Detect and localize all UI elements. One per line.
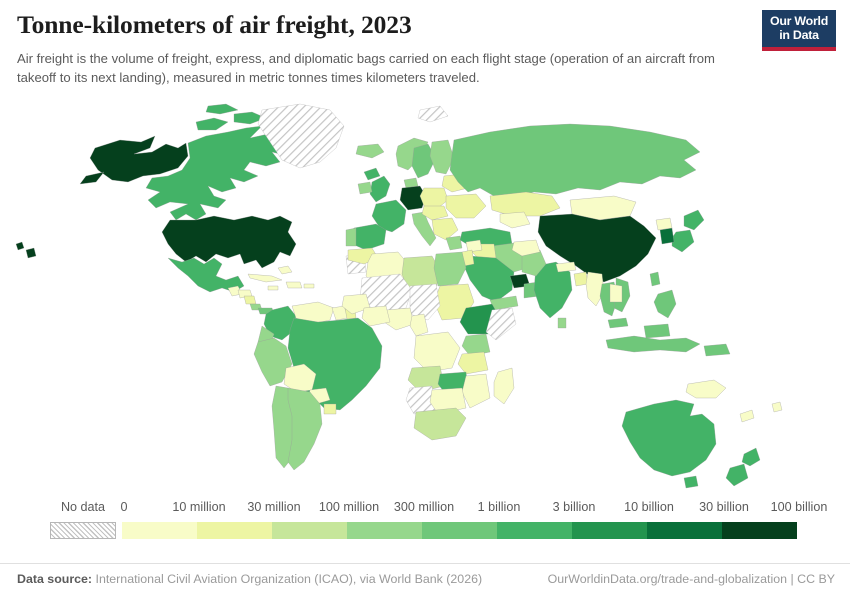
country-chad-nodata[interactable] bbox=[410, 284, 440, 320]
chart-footer: Data source: International Civil Aviatio… bbox=[0, 563, 850, 594]
country-new-zealand[interactable] bbox=[726, 448, 760, 486]
country-tanzania[interactable] bbox=[458, 352, 488, 374]
legend-bin-3[interactable] bbox=[347, 522, 422, 539]
legend-tick-4: 300 million bbox=[394, 500, 454, 514]
country-nicaragua[interactable] bbox=[244, 296, 256, 304]
country-egypt[interactable] bbox=[434, 252, 466, 286]
legend-bin-4[interactable] bbox=[422, 522, 497, 539]
country-japan[interactable] bbox=[672, 210, 704, 252]
country-romania-ukraine[interactable] bbox=[446, 194, 486, 218]
country-ghana-ivory[interactable] bbox=[362, 306, 390, 326]
chart-subtitle: Air freight is the volume of freight, ex… bbox=[17, 50, 729, 87]
country-mexico[interactable] bbox=[168, 258, 244, 292]
owid-logo-line1: Our World bbox=[770, 15, 828, 29]
country-svalbard-nodata[interactable] bbox=[418, 106, 448, 122]
legend-bin-2[interactable] bbox=[272, 522, 347, 539]
country-tasmania[interactable] bbox=[684, 476, 698, 488]
legend-tick-7: 10 billion bbox=[624, 500, 674, 514]
country-russia[interactable] bbox=[450, 124, 700, 198]
country-south-africa[interactable] bbox=[414, 408, 466, 440]
legend-tick-2: 30 million bbox=[247, 500, 300, 514]
country-poland[interactable] bbox=[420, 188, 448, 208]
country-ireland[interactable] bbox=[358, 182, 372, 194]
legend-no-data-label: No data bbox=[61, 500, 105, 514]
country-united-states[interactable] bbox=[162, 216, 296, 268]
legend-bin-8[interactable] bbox=[722, 522, 797, 539]
legend-color-bar[interactable] bbox=[122, 522, 797, 539]
country-indonesia[interactable] bbox=[606, 336, 730, 356]
owid-logo-line2: in Data bbox=[779, 29, 819, 43]
country-sri-lanka[interactable] bbox=[558, 318, 566, 328]
country-new-caledonia[interactable] bbox=[740, 410, 754, 422]
legend-no-data-swatch[interactable] bbox=[50, 522, 116, 539]
country-uruguay[interactable] bbox=[324, 404, 336, 414]
country-cuba[interactable] bbox=[248, 274, 282, 282]
legend-bin-1[interactable] bbox=[197, 522, 272, 539]
country-puerto-rico[interactable] bbox=[304, 284, 314, 288]
legend-tick-8: 30 billion bbox=[699, 500, 749, 514]
legend-bin-5[interactable] bbox=[497, 522, 572, 539]
legend-tick-9: 100 billion bbox=[771, 500, 828, 514]
country-malaysia[interactable] bbox=[608, 318, 670, 338]
country-philippines[interactable] bbox=[654, 290, 676, 318]
country-portugal[interactable] bbox=[346, 228, 356, 246]
country-australia[interactable] bbox=[622, 400, 716, 476]
country-iceland[interactable] bbox=[356, 144, 384, 158]
country-bahamas[interactable] bbox=[278, 266, 292, 274]
country-kazakhstan[interactable] bbox=[490, 192, 560, 216]
country-argentina[interactable] bbox=[288, 388, 322, 470]
country-laos-cambodia[interactable] bbox=[610, 284, 622, 302]
owid-logo[interactable]: Our World in Data bbox=[762, 10, 836, 51]
country-hawaii[interactable] bbox=[16, 242, 36, 258]
legend-tick-3: 100 million bbox=[319, 500, 379, 514]
legend-tick-1: 10 million bbox=[172, 500, 225, 514]
country-fiji[interactable] bbox=[772, 402, 782, 412]
world-map-svg bbox=[0, 96, 850, 496]
data-source-text: International Civil Aviation Organizatio… bbox=[96, 572, 483, 586]
country-mozambique[interactable] bbox=[462, 374, 490, 408]
legend-bin-7[interactable] bbox=[647, 522, 722, 539]
country-north-korea[interactable] bbox=[656, 218, 672, 230]
map-legend: No data 0 10 million 30 million 100 mill… bbox=[0, 500, 850, 554]
legend-bin-6[interactable] bbox=[572, 522, 647, 539]
page-title: Tonne-kilometers of air freight, 2023 bbox=[17, 10, 412, 40]
legend-bin-0[interactable] bbox=[122, 522, 197, 539]
country-syria[interactable] bbox=[466, 240, 482, 252]
country-papua-new-guinea[interactable] bbox=[686, 380, 726, 398]
country-jamaica[interactable] bbox=[268, 286, 278, 290]
country-greece[interactable] bbox=[446, 236, 462, 250]
country-south-korea[interactable] bbox=[660, 228, 674, 244]
country-hispaniola[interactable] bbox=[286, 282, 302, 288]
data-source-note: Data source: International Civil Aviatio… bbox=[17, 572, 482, 586]
owid-url-license[interactable]: OurWorldinData.org/trade-and-globalizati… bbox=[548, 572, 835, 586]
country-taiwan[interactable] bbox=[650, 272, 660, 286]
legend-tick-labels: No data 0 10 million 30 million 100 mill… bbox=[0, 500, 850, 520]
data-source-label: Data source: bbox=[17, 572, 92, 586]
country-dr-congo[interactable] bbox=[414, 332, 460, 372]
country-nepal[interactable] bbox=[556, 262, 576, 272]
legend-tick-0: 0 bbox=[120, 500, 127, 514]
world-choropleth-map[interactable] bbox=[0, 96, 850, 496]
legend-tick-6: 3 billion bbox=[553, 500, 596, 514]
legend-tick-5: 1 billion bbox=[478, 500, 521, 514]
country-madagascar[interactable] bbox=[494, 368, 514, 404]
